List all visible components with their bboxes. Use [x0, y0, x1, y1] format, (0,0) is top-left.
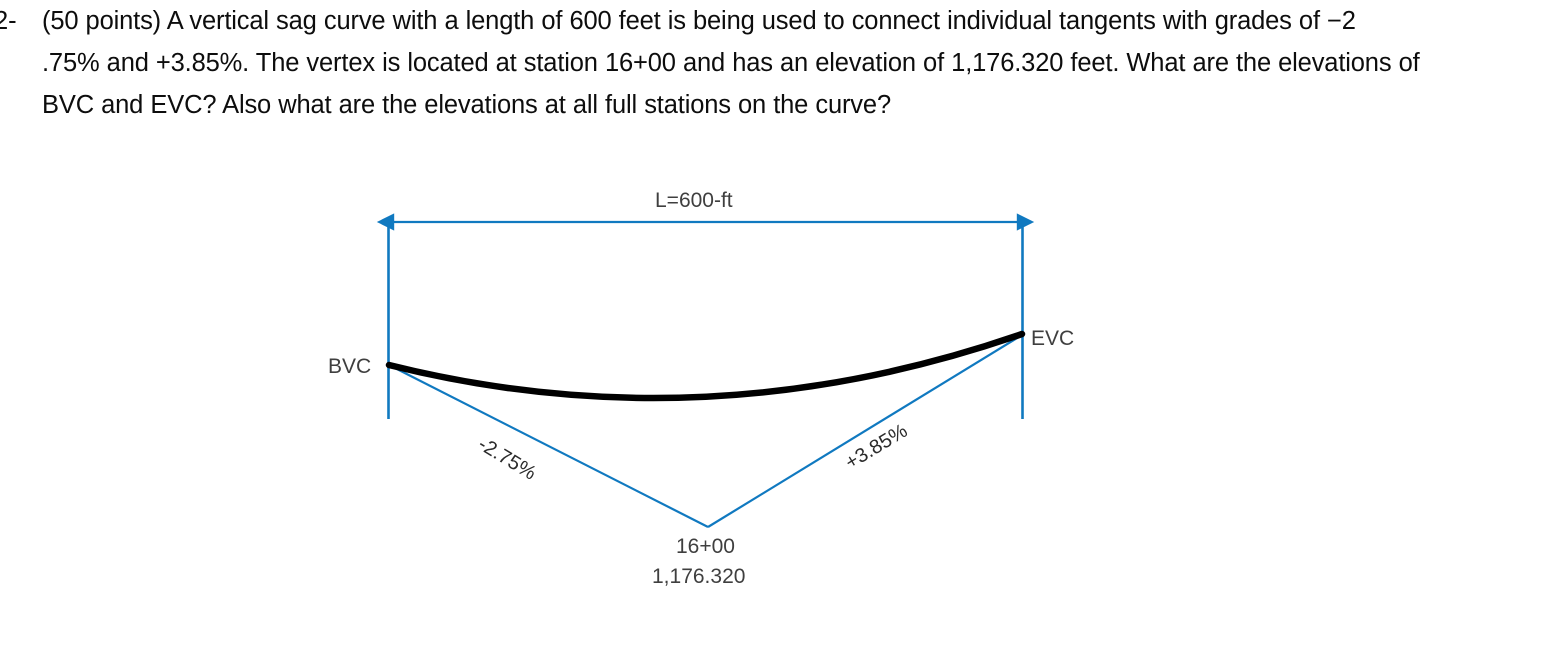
diagram-svg	[0, 170, 1553, 646]
vertex-station-label: 16+00	[676, 536, 735, 557]
back-tangent-line	[389, 365, 708, 527]
evc-label: EVC	[1031, 328, 1074, 349]
problem-number: 2-	[0, 0, 42, 42]
vertical-sag-curve-diagram: L=600-ft BVC EVC -2.75% +3.85% 16+00 1,1…	[0, 170, 1553, 646]
sag-curve-path	[389, 334, 1022, 398]
forward-tangent-line	[708, 335, 1022, 527]
curve-length-label: L=600-ft	[655, 190, 733, 211]
vertex-elevation-label: 1,176.320	[652, 566, 745, 587]
bvc-label: BVC	[328, 356, 371, 377]
problem-text: (50 points) A vertical sag curve with a …	[42, 0, 1420, 126]
problem-statement: 2- (50 points) A vertical sag curve with…	[0, 0, 1420, 126]
